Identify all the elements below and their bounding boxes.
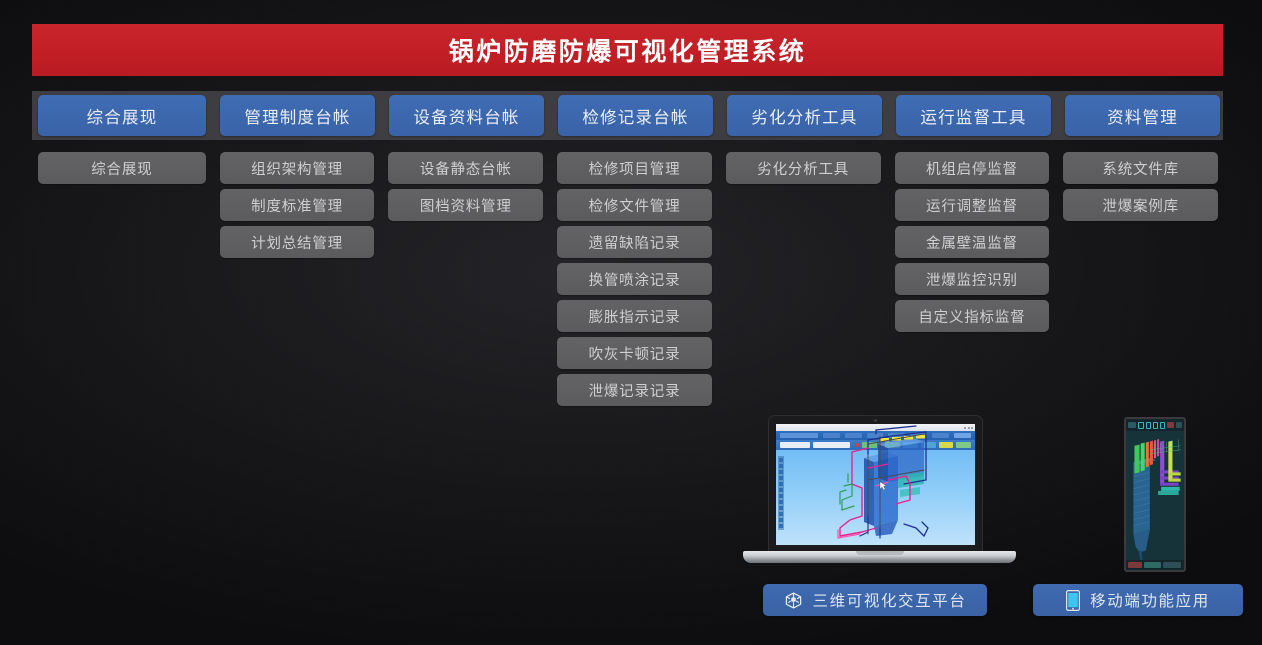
menu-column-1: 综合展现 — [38, 152, 206, 411]
menu-item-2-3[interactable]: 计划总结管理 — [220, 226, 375, 258]
cta-3d-visualization-platform[interactable]: 三维可视化交互平台 — [763, 584, 987, 616]
laptop-camera-icon — [874, 419, 877, 422]
menu-item-4-2[interactable]: 检修文件管理 — [557, 189, 712, 221]
cube-3d-icon — [784, 591, 803, 610]
phone-bottom-bar — [1126, 560, 1184, 570]
cta-mobile-application[interactable]: 移动端功能应用 — [1033, 584, 1243, 616]
category-button-3[interactable]: 设备资料台帐 — [389, 95, 544, 136]
menu-item-6-2[interactable]: 运行调整监督 — [895, 189, 1050, 221]
menu-columns: 综合展现组织架构管理制度标准管理计划总结管理设备静态台帐图档资料管理检修项目管理… — [38, 152, 1218, 411]
phone-tab-button — [1163, 562, 1181, 568]
menu-item-6-4[interactable]: 泄爆监控识别 — [895, 263, 1050, 295]
menu-column-3: 设备静态台帐图档资料管理 — [388, 152, 543, 411]
laptop-trackpad-notch — [856, 551, 904, 555]
category-button-1[interactable]: 综合展现 — [38, 95, 206, 136]
menu-item-3-1[interactable]: 设备静态台帐 — [388, 152, 543, 184]
menu-item-3-2[interactable]: 图档资料管理 — [388, 189, 543, 221]
menu-column-2: 组织架构管理制度标准管理计划总结管理 — [220, 152, 375, 411]
menu-item-4-4[interactable]: 换管喷涂记录 — [557, 263, 712, 295]
menu-item-5-1[interactable]: 劣化分析工具 — [726, 152, 881, 184]
category-button-2[interactable]: 管理制度台帐 — [220, 95, 375, 136]
menu-item-4-5[interactable]: 膨胀指示记录 — [557, 300, 712, 332]
menu-item-6-5[interactable]: 自定义指标监督 — [895, 300, 1050, 332]
menu-item-7-2[interactable]: 泄爆案例库 — [1063, 189, 1218, 221]
page-title: 锅炉防磨防爆可视化管理系统 — [449, 32, 807, 68]
category-button-6[interactable]: 运行监督工具 — [896, 95, 1051, 136]
phone-tab-button — [1128, 562, 1142, 568]
mobile-phone-icon — [1066, 590, 1080, 611]
menu-item-6-1[interactable]: 机组启停监督 — [895, 152, 1050, 184]
menu-column-6: 机组启停监督运行调整监督金属壁温监督泄爆监控识别自定义指标监督 — [895, 152, 1050, 411]
cta-mobile-label: 移动端功能应用 — [1090, 589, 1210, 611]
category-nav-strip: 综合展现管理制度台帐设备资料台帐检修记录台帐劣化分析工具运行监督工具资料管理 — [32, 91, 1223, 140]
menu-item-4-1[interactable]: 检修项目管理 — [557, 152, 712, 184]
desktop-mockup — [743, 415, 1016, 573]
boiler-3d-model-mobile — [1126, 419, 1184, 570]
menu-column-7: 系统文件库泄爆案例库 — [1063, 152, 1218, 411]
menu-item-7-1[interactable]: 系统文件库 — [1063, 152, 1218, 184]
mobile-mockup — [1124, 417, 1186, 572]
category-button-4[interactable]: 检修记录台帐 — [558, 95, 713, 136]
menu-item-4-3[interactable]: 遗留缺陷记录 — [557, 226, 712, 258]
menu-item-2-2[interactable]: 制度标准管理 — [220, 189, 375, 221]
phone-tab-button — [1144, 562, 1161, 568]
menu-item-1-1[interactable]: 综合展现 — [38, 152, 206, 184]
menu-column-4: 检修项目管理检修文件管理遗留缺陷记录换管喷涂记录膨胀指示记录吹灰卡顿记录泄爆记录… — [557, 152, 712, 411]
app-title-bar: 锅炉防磨防爆可视化管理系统 — [32, 24, 1223, 76]
menu-item-2-1[interactable]: 组织架构管理 — [220, 152, 375, 184]
cta-3d-label: 三维可视化交互平台 — [813, 589, 967, 611]
category-button-7[interactable]: 资料管理 — [1065, 95, 1220, 136]
laptop-screen — [776, 424, 975, 545]
menu-item-4-7[interactable]: 泄爆记录记录 — [557, 374, 712, 406]
phone-screen — [1126, 419, 1184, 570]
laptop-lid — [768, 415, 983, 554]
menu-item-6-3[interactable]: 金属壁温监督 — [895, 226, 1050, 258]
boiler-3d-model — [776, 424, 975, 545]
app-root: 锅炉防磨防爆可视化管理系统 综合展现管理制度台帐设备资料台帐检修记录台帐劣化分析… — [0, 0, 1262, 645]
menu-column-5: 劣化分析工具 — [726, 152, 881, 411]
menu-item-4-6[interactable]: 吹灰卡顿记录 — [557, 337, 712, 369]
laptop-base — [743, 551, 1016, 563]
category-button-5[interactable]: 劣化分析工具 — [727, 95, 882, 136]
